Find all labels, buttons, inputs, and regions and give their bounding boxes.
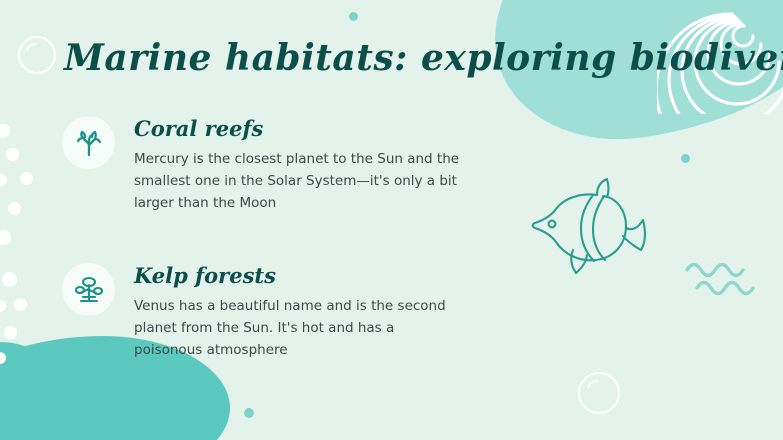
bubble-decoration: [14, 298, 27, 311]
bubble-decoration: [2, 272, 17, 287]
item-body: Kelp forests Venus has a beautiful name …: [134, 263, 474, 361]
item-heading: Coral reefs: [134, 116, 474, 142]
dot-decoration: [681, 154, 690, 163]
bubble-decoration: [4, 326, 17, 339]
bubble-decoration: [20, 172, 33, 185]
item-text: Venus has a beautiful name and is the se…: [134, 295, 466, 361]
bubble-decoration: [0, 174, 7, 186]
kelp-tree-icon: [74, 275, 104, 305]
bubble-decoration: [0, 230, 11, 245]
fish-illustration: [529, 174, 649, 276]
bubble-decoration: [18, 36, 56, 74]
bubble-decoration: [8, 202, 21, 215]
waves-icon: [685, 256, 761, 302]
icon-badge: [62, 116, 115, 169]
item-text: Mercury is the closest planet to the Sun…: [134, 148, 466, 214]
item-body: Coral reefs Mercury is the closest plane…: [134, 116, 474, 214]
item-heading: Kelp forests: [134, 263, 474, 289]
blob-bottom-left-secondary: [0, 342, 60, 422]
bubble-decoration: [0, 352, 6, 364]
coral-icon: [74, 128, 104, 158]
dot-decoration: [244, 408, 254, 418]
dot-decoration: [349, 12, 358, 21]
bubble-decoration: [0, 300, 6, 312]
bubble-decoration: [0, 124, 10, 138]
page-title: Marine habitats: exploring biodiversity: [64, 36, 783, 80]
bubble-decoration: [578, 372, 620, 414]
slide-canvas: Marine habitats: exploring biodiversity …: [0, 0, 783, 440]
icon-badge: [62, 263, 115, 316]
bubble-decoration: [6, 148, 19, 161]
